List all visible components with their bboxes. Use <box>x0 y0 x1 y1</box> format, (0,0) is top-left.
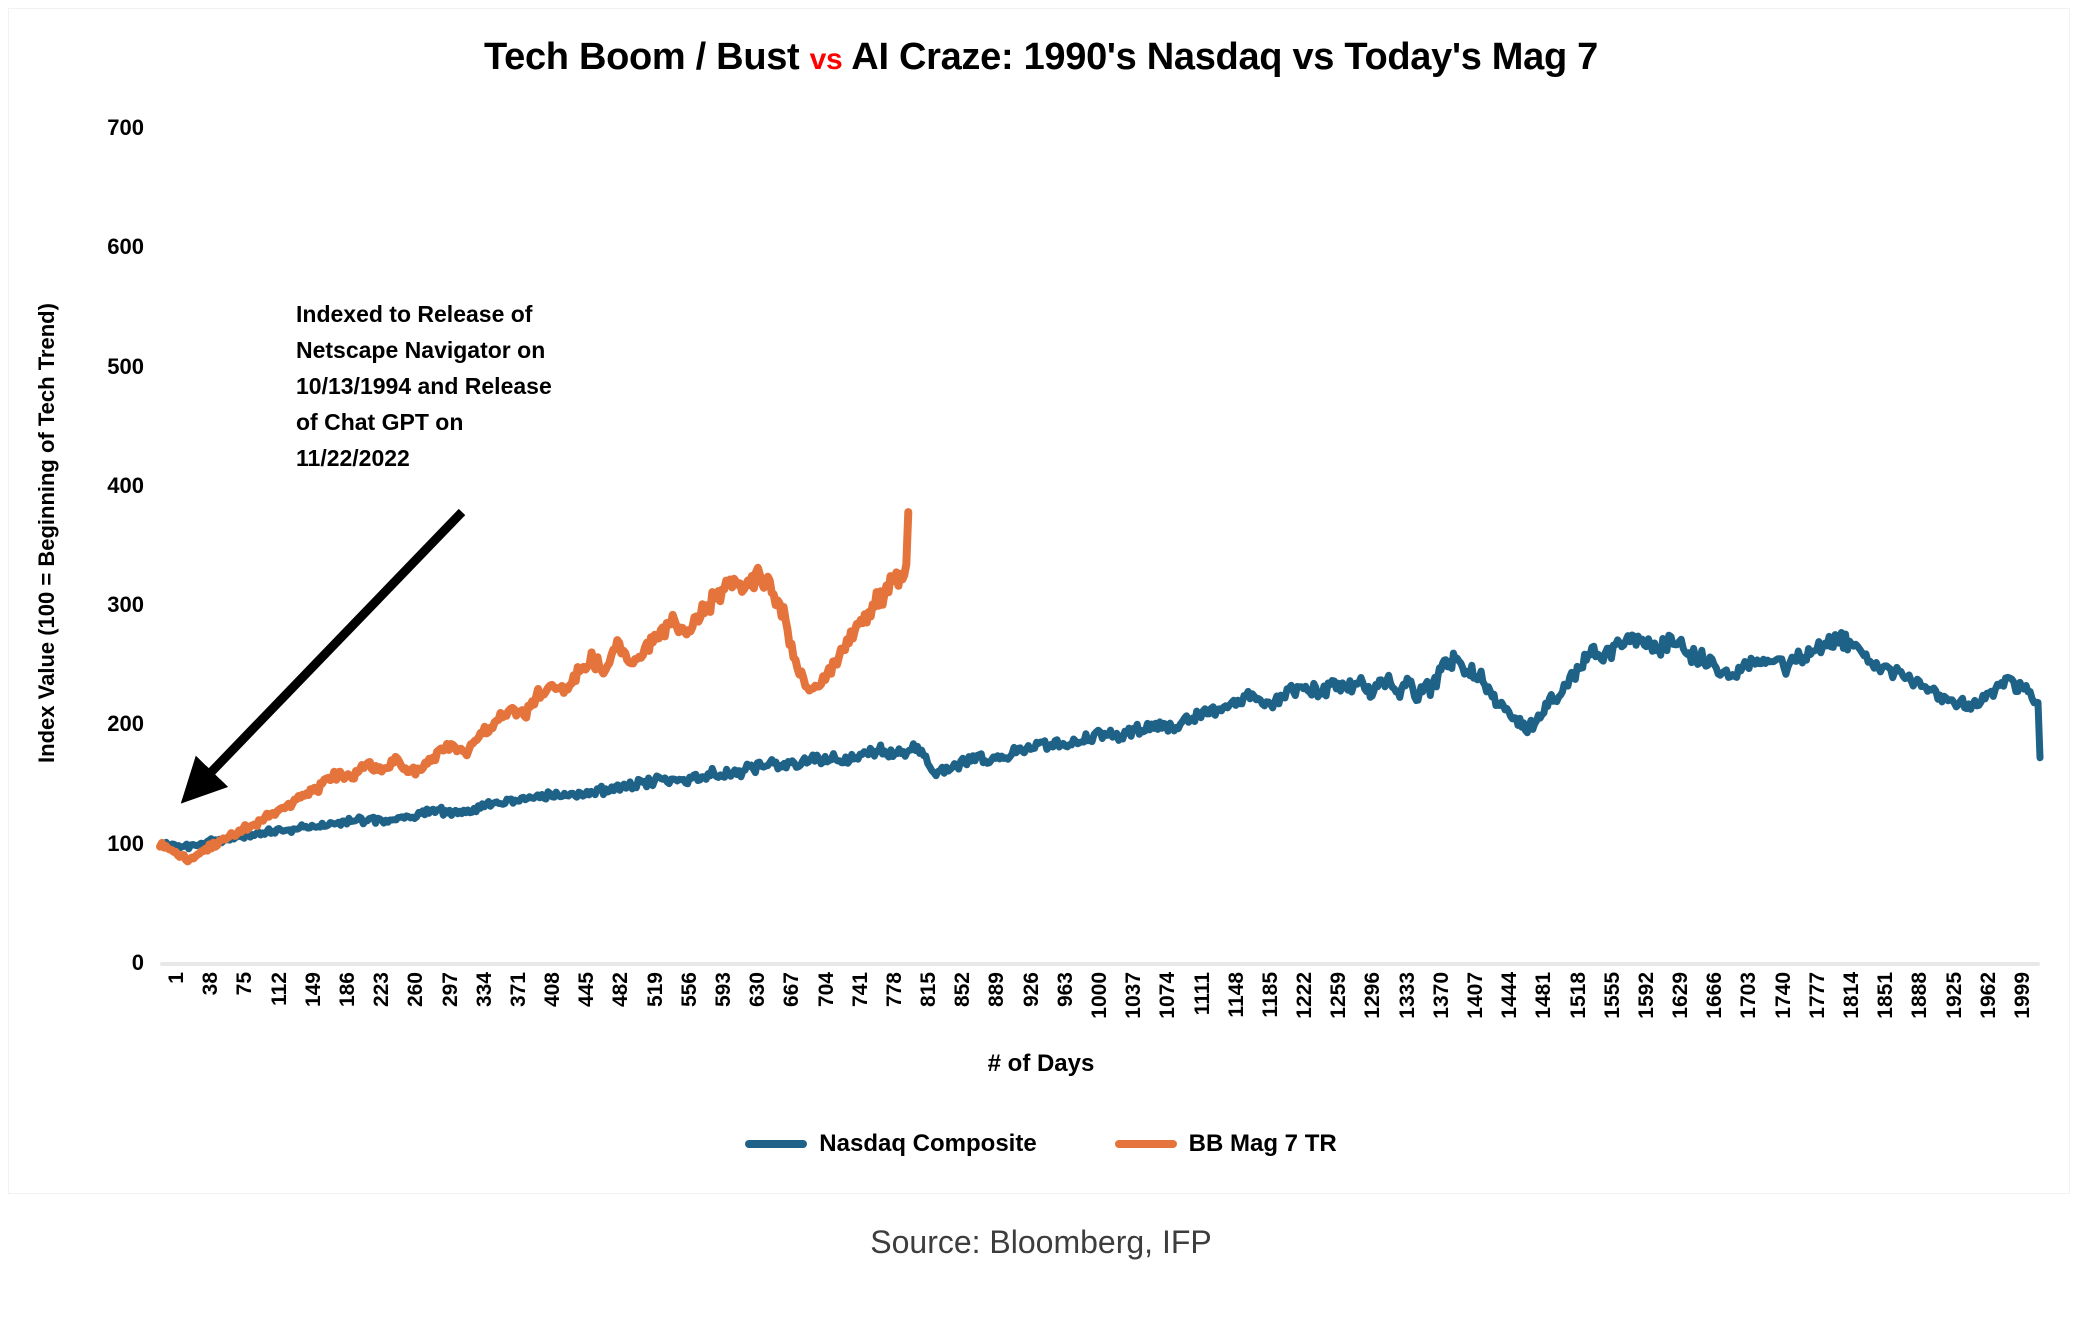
x-tick-label: 408 <box>542 972 563 1007</box>
x-tick-label: 852 <box>952 972 973 1007</box>
y-tick-label: 700 <box>58 117 144 139</box>
x-tick-label: 75 <box>234 972 255 995</box>
legend-item-bb-mag7-tr[interactable]: BB Mag 7 TR <box>1115 1130 1337 1158</box>
x-tick-label: 1185 <box>1260 972 1281 1018</box>
x-tick-label: 1370 <box>1431 972 1452 1019</box>
y-tick-label: 100 <box>58 833 144 855</box>
x-tick-label: 1111 <box>1192 972 1213 1015</box>
x-tick-label: 889 <box>986 972 1007 1007</box>
x-tick-label: 1925 <box>1944 972 1965 1019</box>
legend-label-bb-mag7-tr: BB Mag 7 TR <box>1189 1130 1337 1158</box>
x-tick-label: 1000 <box>1089 972 1110 1019</box>
x-tick-label: 371 <box>508 972 529 1007</box>
x-tick-label: 1259 <box>1328 972 1349 1019</box>
y-tick-label: 0 <box>58 952 144 974</box>
x-tick-label: 297 <box>440 972 461 1007</box>
x-tick-label: 1592 <box>1636 972 1657 1019</box>
x-tick-label: 630 <box>747 972 768 1007</box>
legend-swatch-nasdaq-composite <box>745 1140 807 1148</box>
y-tick-label: 500 <box>58 356 144 378</box>
x-axis-line <box>160 962 2040 966</box>
annotation-arrow-icon <box>150 330 570 830</box>
x-tick-label: 1074 <box>1157 972 1178 1019</box>
x-tick-label: 482 <box>610 972 631 1007</box>
chart-page: Tech Boom / Bust vs AI Craze: 1990's Nas… <box>0 0 2082 1326</box>
y-tick-label: 400 <box>58 475 144 497</box>
x-tick-label: 1666 <box>1704 972 1725 1019</box>
x-tick-label: 815 <box>918 972 939 1007</box>
page-title: Tech Boom / Bust vs AI Craze: 1990's Nas… <box>0 36 2082 79</box>
x-tick-label: 741 <box>850 972 871 1007</box>
x-tick-label: 112 <box>269 972 290 1006</box>
legend-item-nasdaq-composite[interactable]: Nasdaq Composite <box>745 1130 1036 1158</box>
x-tick-label: 926 <box>1021 972 1042 1007</box>
source-caption: Source: Bloomberg, IFP <box>0 1224 2082 1261</box>
x-tick-label: 1444 <box>1499 972 1520 1019</box>
x-tick-label: 1481 <box>1533 972 1554 1019</box>
x-tick-label: 519 <box>645 972 666 1007</box>
x-tick-label: 445 <box>576 972 597 1007</box>
title-vs-highlight: vs <box>810 43 843 76</box>
legend-label-nasdaq-composite: Nasdaq Composite <box>819 1130 1036 1158</box>
legend-swatch-bb-mag7-tr <box>1115 1140 1177 1148</box>
x-tick-label: 1740 <box>1773 972 1794 1019</box>
y-tick-label: 600 <box>58 236 144 258</box>
x-tick-label: 1407 <box>1465 972 1486 1019</box>
x-tick-label: 704 <box>816 972 837 1007</box>
x-tick-label: 1148 <box>1226 972 1247 1018</box>
x-tick-label: 593 <box>713 972 734 1007</box>
x-tick-label: 1814 <box>1841 972 1862 1019</box>
x-tick-label: 1962 <box>1978 972 1999 1019</box>
y-axis-title: Index Value (100 = Beginning of Tech Tre… <box>34 233 60 833</box>
x-tick-label: 667 <box>781 972 802 1007</box>
title-part-2: AI Craze: 1990's Nasdaq vs Today's Mag 7 <box>842 36 1598 78</box>
x-tick-label: 1888 <box>1909 972 1930 1019</box>
x-tick-label: 1629 <box>1670 972 1691 1019</box>
x-tick-label: 149 <box>303 972 324 1007</box>
x-tick-label: 1037 <box>1123 972 1144 1019</box>
x-tick-label: 556 <box>679 972 700 1007</box>
x-tick-label: 186 <box>337 972 358 1007</box>
x-tick-label: 260 <box>405 972 426 1007</box>
x-tick-label: 963 <box>1055 972 1076 1007</box>
x-tick-label: 1222 <box>1294 972 1315 1019</box>
x-tick-label: 1851 <box>1875 972 1896 1019</box>
x-tick-label: 1703 <box>1738 972 1759 1019</box>
x-axis-title: # of Days <box>0 1050 2082 1078</box>
title-part-1: Tech Boom / Bust <box>484 36 810 78</box>
x-tick-label: 1518 <box>1568 972 1589 1019</box>
x-tick-label: 223 <box>371 972 392 1007</box>
x-tick-label: 1333 <box>1397 972 1418 1019</box>
y-tick-label: 200 <box>58 713 144 735</box>
x-tick-label: 1777 <box>1807 972 1828 1019</box>
chart-legend: Nasdaq Composite BB Mag 7 TR <box>0 1130 2082 1158</box>
x-tick-label: 1999 <box>2012 972 2033 1019</box>
y-tick-label: 300 <box>58 594 144 616</box>
x-tick-label: 38 <box>200 972 221 995</box>
annotation-line-1: Indexed to Release of <box>296 296 696 332</box>
x-tick-label: 334 <box>474 972 495 1007</box>
x-tick-label: 778 <box>884 972 905 1007</box>
x-tick-label: 1555 <box>1602 972 1623 1019</box>
x-tick-label: 1 <box>166 972 187 984</box>
x-tick-label: 1296 <box>1362 972 1383 1019</box>
